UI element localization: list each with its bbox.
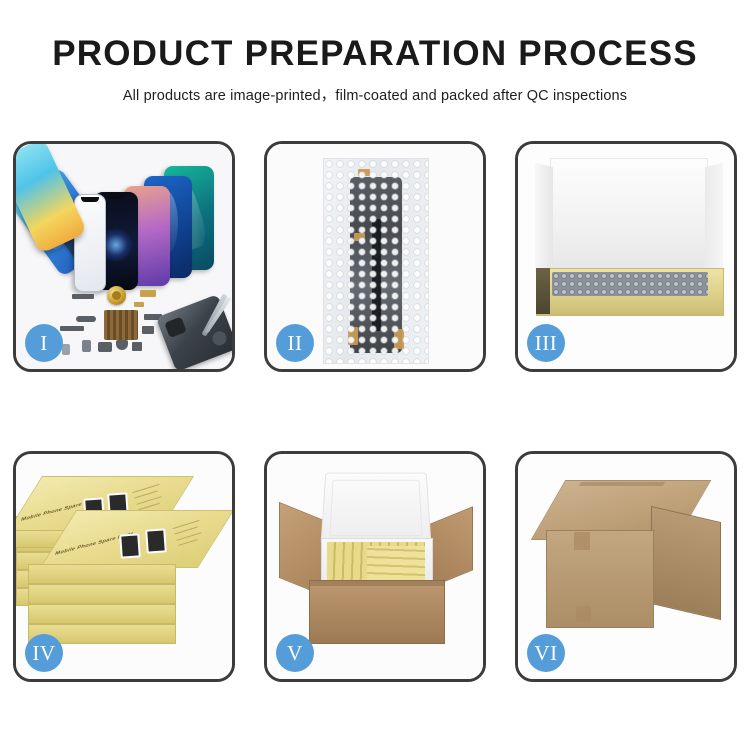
- carton-tab-upper-icon: [574, 532, 590, 550]
- part-speaker-icon: [98, 342, 112, 352]
- step-badge-1: I: [25, 324, 63, 362]
- process-step-2: II: [264, 141, 486, 372]
- part-gold-connector-icon: [140, 290, 156, 297]
- step-badge-6: VI: [527, 634, 565, 672]
- inner-boxes-row-b: [367, 546, 425, 580]
- step-badge-3: III: [527, 324, 565, 362]
- glass-notch-icon: [81, 197, 99, 202]
- carton-right-face-icon: [651, 506, 721, 620]
- part-bracket-icon: [60, 326, 84, 331]
- box-phone-image-c: [119, 533, 141, 558]
- carton-left-face-icon: [546, 530, 654, 628]
- process-step-4: Mobile Phone Spare Parts Mobile Phone Sp…: [13, 451, 235, 682]
- part-buzzer-icon: [116, 340, 128, 350]
- page-title: PRODUCT PREPARATION PROCESS: [0, 36, 750, 73]
- screw-grid-icon: [104, 310, 138, 340]
- step-badge-4: IV: [25, 634, 63, 672]
- process-step-1: I: [13, 141, 235, 372]
- box-side-shadow: [536, 268, 550, 314]
- step-badge-5: V: [276, 634, 314, 672]
- foam-cooler-lid-icon: [321, 473, 432, 545]
- box-front-r3: [28, 604, 176, 624]
- process-step-5: V: [264, 451, 486, 682]
- box-front-r1: [28, 564, 176, 584]
- coil-part-icon: [107, 286, 126, 305]
- white-foam-sheet-icon: [550, 158, 708, 284]
- box-phone-image-d: [145, 528, 167, 553]
- bubble-wrap-bag-icon: [323, 158, 429, 364]
- carton-tab-lower-icon: [576, 606, 591, 622]
- carton-front-panel-icon: [309, 580, 445, 644]
- process-step-6: VI: [515, 451, 737, 682]
- bubble-texture: [324, 159, 428, 363]
- part-sim-tray-icon: [62, 344, 70, 355]
- part-gold-small-icon: [134, 302, 144, 307]
- grey-bubble-wrap-icon: [552, 272, 708, 296]
- process-step-3: III: [515, 141, 737, 372]
- product-preparation-infographic: PRODUCT PREPARATION PROCESS All products…: [0, 0, 750, 750]
- part-button-icon: [132, 342, 142, 351]
- box-front-r2: [28, 584, 176, 604]
- carton-tape-seam-icon: [579, 482, 665, 486]
- page-subtitle: All products are image-printed，film-coat…: [0, 84, 750, 105]
- part-flex-cable-icon: [76, 316, 96, 322]
- header: PRODUCT PREPARATION PROCESS All products…: [0, 36, 750, 105]
- phone-notch-icon: [107, 194, 125, 199]
- part-strip-icon: [72, 294, 94, 299]
- process-step-grid: I II: [13, 141, 737, 682]
- part-chip-icon: [142, 326, 154, 334]
- part-camera-icon: [82, 340, 91, 352]
- step-badge-2: II: [276, 324, 314, 362]
